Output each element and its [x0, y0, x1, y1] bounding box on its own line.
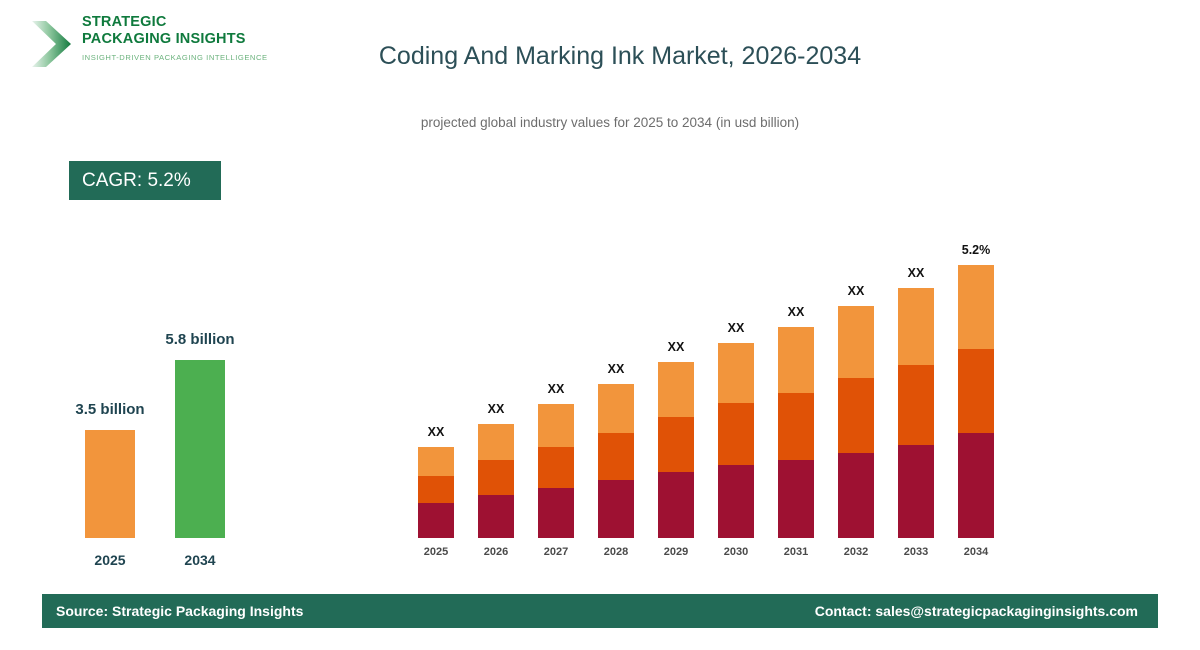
- stacked-bar-top-label: XX: [761, 305, 831, 319]
- stacked-bar-year-label: 2025: [406, 546, 466, 558]
- stacked-bar-year-label: 2031: [766, 546, 826, 558]
- stacked-bar-top-label: 5.2%: [941, 243, 1011, 257]
- stacked-bar-segment: [658, 417, 694, 472]
- stacked-bar-segment: [418, 476, 454, 503]
- stacked-bar-segment: [418, 447, 454, 476]
- stacked-bar-group: XX2032: [838, 220, 874, 560]
- stacked-bar-segment: [778, 327, 814, 393]
- logo-wordmark: STRATEGIC PACKAGING INSIGHTS INSIGHT-DRI…: [82, 14, 268, 62]
- footer-source-label: Source: Strategic Packaging Insights: [56, 603, 303, 619]
- stacked-bar: [718, 343, 754, 538]
- stacked-bar-year-label: 2027: [526, 546, 586, 558]
- comparison-bar-group: [85, 430, 135, 538]
- stacked-bar-top-label: XX: [821, 284, 891, 298]
- stacked-bar-year-label: 2032: [826, 546, 886, 558]
- stacked-bar-segment: [538, 488, 574, 538]
- comparison-bar-group: [175, 360, 225, 538]
- stacked-bar-group: XX2027: [538, 220, 574, 560]
- stacked-bar-segment: [538, 404, 574, 447]
- stacked-bar-chart: XX2025XX2026XX2027XX2028XX2029XX2030XX20…: [400, 200, 1020, 560]
- stacked-bar: [478, 424, 514, 538]
- stacked-bar-year-label: 2034: [946, 546, 1006, 558]
- stacked-bar-group: 5.2%2034: [958, 220, 994, 560]
- footer-contact-label: Contact: sales@strategicpackaginginsight…: [815, 603, 1144, 619]
- stacked-bar-top-label: XX: [581, 362, 651, 376]
- stacked-bar-segment: [598, 433, 634, 480]
- stacked-bar: [658, 362, 694, 538]
- stacked-bar-group: XX2029: [658, 220, 694, 560]
- logo-line-2: PACKAGING INSIGHTS: [82, 31, 268, 48]
- stacked-bar-segment: [478, 495, 514, 538]
- stacked-bar-segment: [958, 349, 994, 433]
- stacked-bar: [418, 447, 454, 538]
- stacked-bar-segment: [658, 472, 694, 538]
- stacked-bar-top-label: XX: [641, 340, 711, 354]
- stacked-bar: [538, 404, 574, 538]
- stacked-bar: [598, 384, 634, 538]
- stacked-bar-segment: [478, 424, 514, 460]
- stacked-bar-segment: [898, 445, 934, 538]
- footer-bar: Source: Strategic Packaging Insights Con…: [42, 594, 1158, 628]
- stacked-bar-segment: [838, 306, 874, 378]
- stacked-bar-segment: [838, 453, 874, 538]
- stacked-bar-segment: [598, 384, 634, 433]
- comparison-bar-year-label: 2034: [120, 552, 280, 568]
- comparison-bar-chart: 3.5 billion20255.8 billion2034: [40, 300, 290, 570]
- cagr-badge: CAGR: 5.2%: [69, 161, 221, 200]
- stacked-bar: [838, 306, 874, 538]
- stacked-bar-segment: [718, 465, 754, 538]
- logo-line-1: STRATEGIC: [82, 14, 268, 31]
- stacked-bar-segment: [478, 460, 514, 495]
- stacked-bar-top-label: XX: [461, 402, 531, 416]
- stacked-bar-year-label: 2029: [646, 546, 706, 558]
- stacked-bar: [778, 327, 814, 538]
- chevron-right-logo-icon: [30, 18, 76, 70]
- stacked-bar-segment: [898, 365, 934, 445]
- stacked-bar-segment: [538, 447, 574, 488]
- stacked-bar-segment: [838, 378, 874, 453]
- cagr-badge-label: CAGR: 5.2%: [82, 170, 191, 192]
- stacked-bar-segment: [958, 433, 994, 538]
- comparison-bar: [175, 360, 225, 538]
- page-title: Coding And Marking Ink Market, 2026-2034: [300, 42, 940, 71]
- logo-tagline: INSIGHT-DRIVEN PACKAGING INTELLIGENCE: [82, 53, 268, 62]
- stacked-bar-group: XX2033: [898, 220, 934, 560]
- stacked-bar: [898, 288, 934, 538]
- stacked-bar-segment: [598, 480, 634, 538]
- stacked-bar-top-label: XX: [881, 266, 951, 280]
- stacked-bar-segment: [898, 288, 934, 365]
- comparison-bar: [85, 430, 135, 538]
- stacked-bar-top-label: XX: [701, 321, 771, 335]
- stacked-bar-group: XX2028: [598, 220, 634, 560]
- comparison-bar-value-label: 5.8 billion: [120, 331, 280, 348]
- page-subtitle: projected global industry values for 202…: [300, 115, 920, 130]
- stacked-bar-segment: [418, 503, 454, 538]
- stacked-bar-group: XX2031: [778, 220, 814, 560]
- stacked-bar-year-label: 2030: [706, 546, 766, 558]
- stacked-bar-segment: [718, 403, 754, 465]
- stacked-bar-group: XX2026: [478, 220, 514, 560]
- stacked-bar-year-label: 2026: [466, 546, 526, 558]
- stacked-bar-segment: [718, 343, 754, 403]
- stacked-bar-segment: [958, 265, 994, 349]
- stacked-bar-group: XX2025: [418, 220, 454, 560]
- stacked-bar-segment: [778, 460, 814, 538]
- stacked-bar: [958, 265, 994, 538]
- stacked-bar-year-label: 2033: [886, 546, 946, 558]
- stacked-bar-top-label: XX: [521, 382, 591, 396]
- stacked-bar-segment: [658, 362, 694, 417]
- comparison-bar-value-label: 3.5 billion: [30, 401, 190, 418]
- brand-logo: STRATEGIC PACKAGING INSIGHTS INSIGHT-DRI…: [30, 14, 250, 76]
- stacked-bar-group: XX2030: [718, 220, 754, 560]
- stacked-bar-year-label: 2028: [586, 546, 646, 558]
- stacked-bar-top-label: XX: [401, 425, 471, 439]
- stacked-bar-segment: [778, 393, 814, 460]
